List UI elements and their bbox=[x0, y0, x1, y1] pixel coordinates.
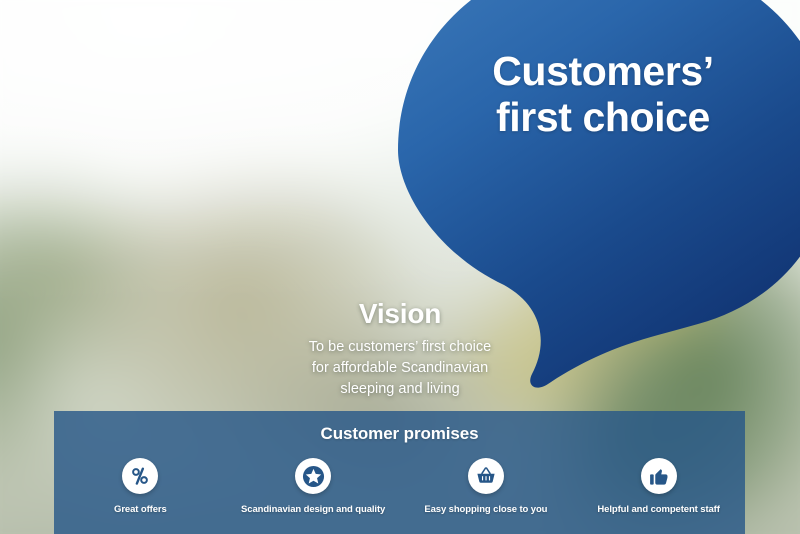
promise-label: Scandinavian design and quality bbox=[227, 504, 400, 515]
vision-title: Vision bbox=[252, 298, 548, 330]
bubble-text: Customers’ first choice bbox=[438, 48, 768, 141]
bubble-line-2: first choice bbox=[438, 94, 768, 140]
vision-line-2: for affordable Scandinavian bbox=[252, 358, 548, 379]
promise-label: Great offers bbox=[54, 504, 227, 515]
promise-label: Helpful and competent staff bbox=[572, 504, 745, 515]
thumbs-up-icon bbox=[641, 458, 677, 494]
customer-promises-row: Great offers Scandinavian design and qua… bbox=[54, 458, 745, 515]
slide-canvas: Customers’ first choice Vision To be cus… bbox=[0, 0, 800, 534]
customer-promises-panel: Customer promises Great offers bbox=[54, 411, 745, 534]
customer-promises-title: Customer promises bbox=[54, 411, 745, 444]
vision-block: Vision To be customers’ first choice for… bbox=[252, 298, 548, 400]
promise-item-helpful-staff: Helpful and competent staff bbox=[572, 458, 745, 515]
promise-label: Easy shopping close to you bbox=[400, 504, 573, 515]
percent-icon bbox=[122, 458, 158, 494]
vision-line-1: To be customers’ first choice bbox=[252, 337, 548, 358]
star-icon bbox=[295, 458, 331, 494]
promise-item-easy-shopping: Easy shopping close to you bbox=[400, 458, 573, 515]
bubble-line-1: Customers’ bbox=[438, 48, 768, 94]
promise-item-design-quality: Scandinavian design and quality bbox=[227, 458, 400, 515]
promise-item-great-offers: Great offers bbox=[54, 458, 227, 515]
vision-line-3: sleeping and living bbox=[252, 379, 548, 400]
shopping-basket-icon bbox=[468, 458, 504, 494]
vision-body: To be customers’ first choice for afford… bbox=[252, 337, 548, 400]
